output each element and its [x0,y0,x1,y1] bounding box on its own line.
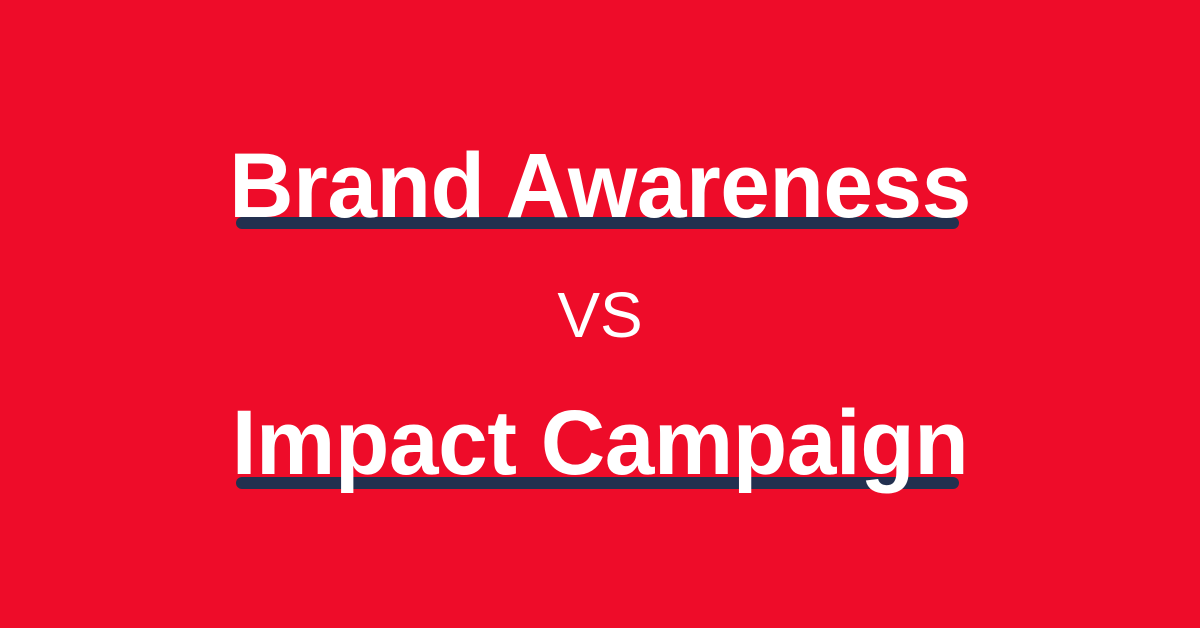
primary-headline-block: Brand Awareness [214,138,986,234]
comparison-title-card: Brand Awareness VS Impact Campaign [0,0,1200,628]
secondary-headline-text: Impact Campaign [226,395,975,491]
versus-label: VS [557,283,642,347]
title-stack: Brand Awareness VS Impact Campaign [0,0,1200,628]
secondary-headline-block: Impact Campaign [214,395,986,491]
versus-block: VS [557,283,642,347]
primary-headline-text: Brand Awareness [226,138,975,234]
